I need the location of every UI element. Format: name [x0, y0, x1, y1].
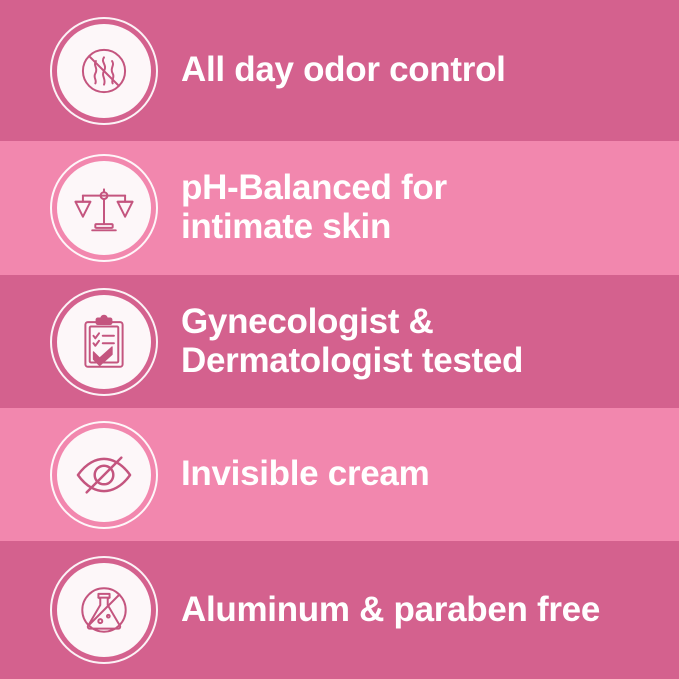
benefit-label: Aluminum & paraben free — [181, 591, 600, 630]
eye-slash-icon — [57, 428, 151, 522]
benefit-row: Gynecologist & Dermatologist tested — [0, 275, 679, 408]
no-odor-icon — [57, 24, 151, 118]
clipboard-check-icon — [57, 295, 151, 389]
balance-scale-icon — [57, 161, 151, 255]
benefit-label: pH-Balanced for intimate skin — [181, 169, 447, 247]
benefit-row: pH-Balanced for intimate skin — [0, 141, 679, 275]
benefit-label: Gynecologist & Dermatologist tested — [181, 303, 523, 381]
benefit-label: All day odor control — [181, 51, 506, 90]
benefit-row: Aluminum & paraben free — [0, 541, 679, 679]
benefit-row: All day odor control — [0, 0, 679, 141]
benefit-label: Invisible cream — [181, 455, 429, 494]
benefits-panel: All day odor control — [0, 0, 679, 679]
benefit-row: Invisible cream — [0, 408, 679, 541]
no-chemicals-flask-icon — [57, 563, 151, 657]
